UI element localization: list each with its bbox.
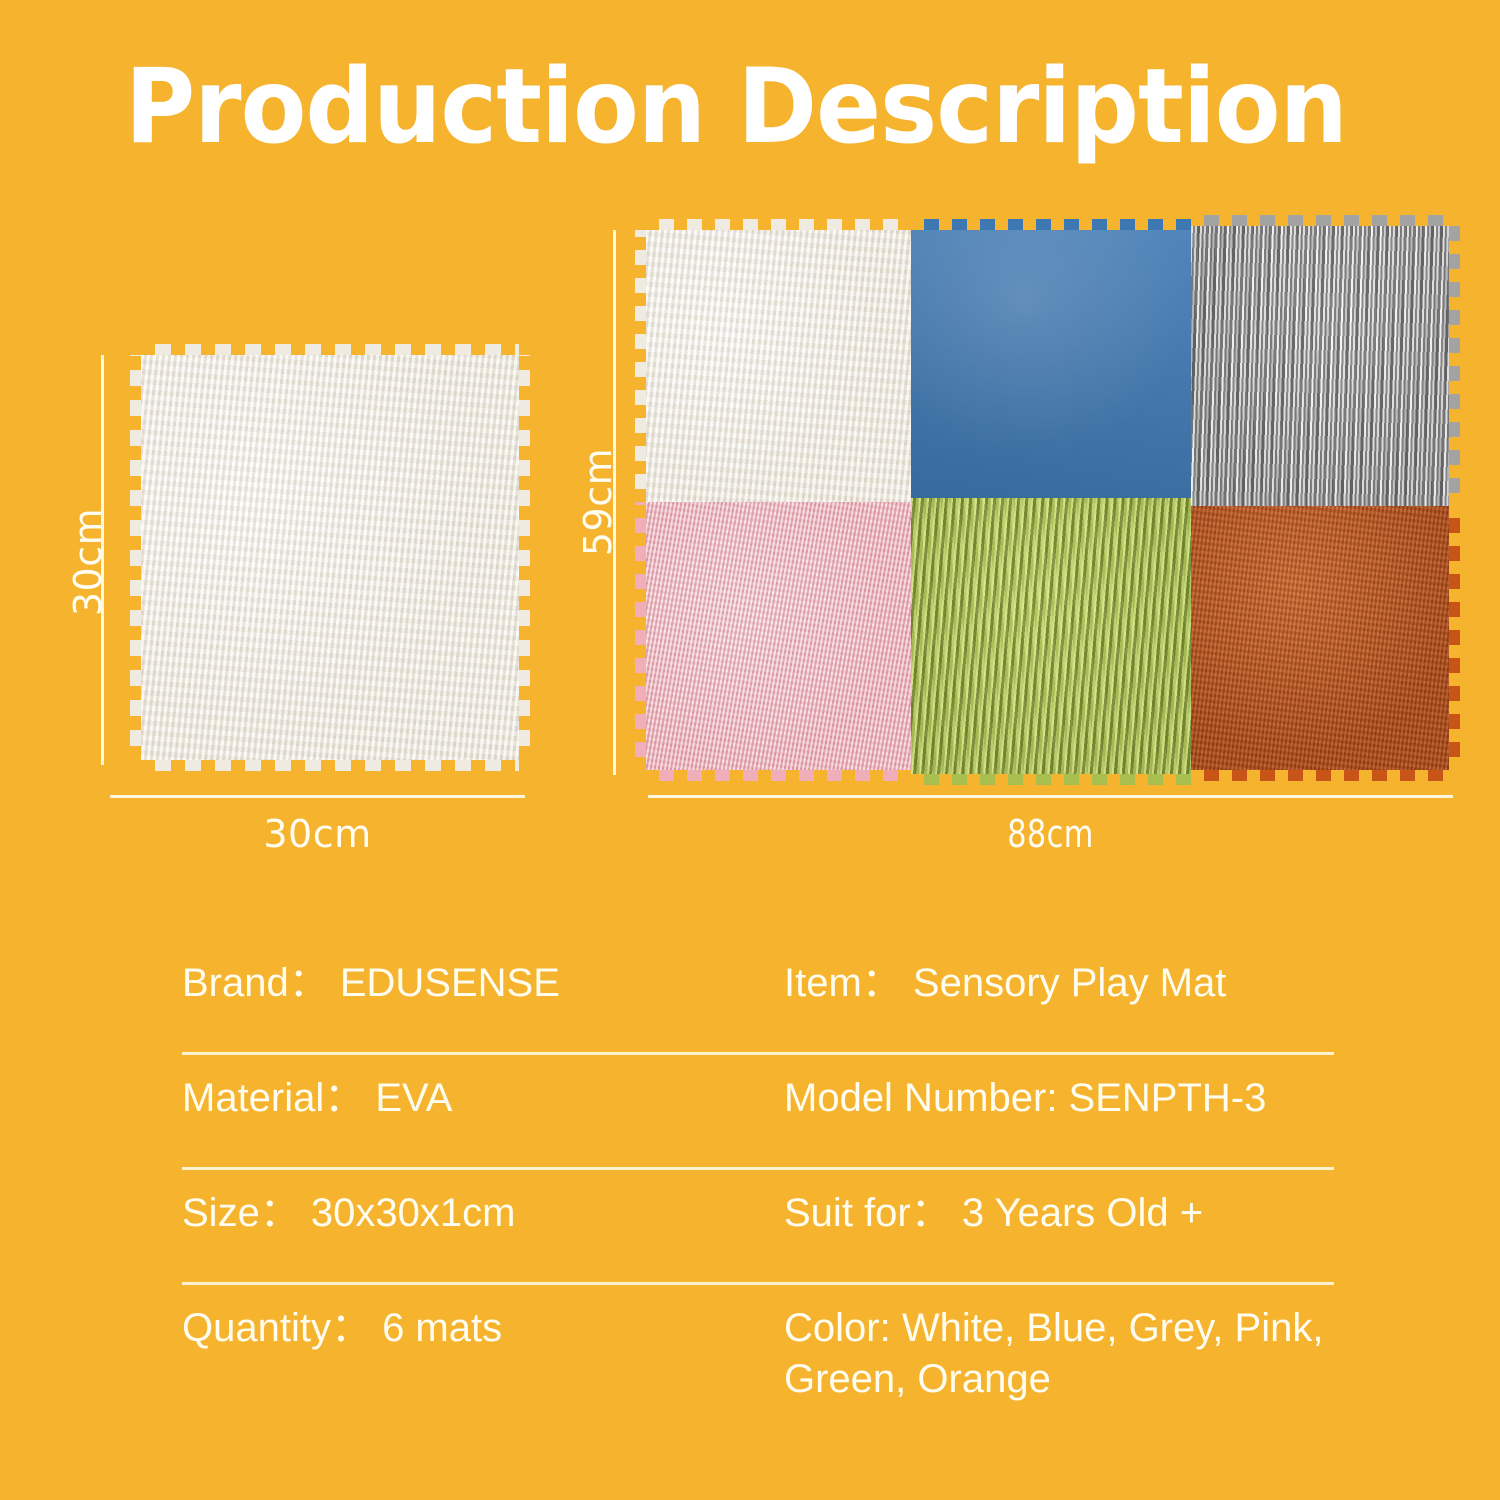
mat-tile-green [911,498,1191,774]
mat-tile-grey-nubs-right [1449,226,1460,506]
mat-tile-grey [1191,226,1449,506]
mat-tile-white-nubs-left [635,230,646,502]
mat-tile-blue-surface [911,230,1191,502]
mat-tile-pink [646,502,911,770]
mat-grid-width-label: 88cm [729,812,1373,856]
spec-quantity: Quantity： 6 mats [182,1285,784,1354]
mat-grid-height-label: 59cm [576,422,620,582]
mat-tile-white-surface [646,230,911,502]
mat-tile-orange-nubs-right [1449,506,1460,770]
white-mat-nubs-right [519,355,530,760]
mat-tile-white [646,230,911,502]
spec-row: Size： 30x30x1cm Suit for： 3 Years Old + [182,1170,1334,1282]
mat-grid-width-line [648,795,1453,798]
spec-row: Quantity： 6 mats Color: White, Blue, Gre… [182,1285,1334,1435]
mat-tile-white-nubs-top [646,219,911,230]
mat-tile-orange-surface [1191,506,1449,770]
spec-material: Material： EVA [182,1055,784,1124]
mat-tile-orange-nubs-bottom [1191,770,1449,781]
spec-suit-for: Suit for： 3 Years Old + [784,1170,1334,1239]
spec-item: Item： Sensory Play Mat [784,940,1334,1009]
mat-tile-grey-surface [1191,226,1449,506]
specification-table: Brand： EDUSENSE Item： Sensory Play Mat M… [182,940,1334,1435]
spec-row: Material： EVA Model Number: SENPTH-3 [182,1055,1334,1167]
mat-tile-green-surface [911,498,1191,774]
spec-model-number: Model Number: SENPTH-3 [784,1055,1334,1124]
mat-tile-blue [911,230,1191,502]
mat-tile-orange [1191,506,1449,770]
mat-tile-pink-nubs-left [635,502,646,770]
single-mat-width-label: 30cm [110,812,525,856]
mat-tile-green-nubs-bottom [911,774,1191,785]
white-mat-nubs-bottom [141,760,519,771]
spec-brand: Brand： EDUSENSE [182,940,784,1009]
mat-tile-blue-nubs-top [911,219,1191,230]
white-mat-nubs-left [130,355,141,760]
white-mat [141,355,519,760]
mat-tile-pink-nubs-bottom [646,770,911,781]
product-illustration: 30cm 30cm 59cm [0,200,1500,860]
spec-color: Color: White, Blue, Grey, Pink, Green, O… [784,1285,1334,1405]
spec-size: Size： 30x30x1cm [182,1170,784,1239]
mat-tile-pink-surface [646,502,911,770]
single-mat-height-label: 30cm [66,482,110,642]
spec-row: Brand： EDUSENSE Item： Sensory Play Mat [182,940,1334,1052]
white-mat-surface [141,355,519,760]
mat-tile-grey-nubs-top [1191,215,1449,226]
white-mat-nubs-top [141,344,519,355]
page-title: Production Description [125,52,1297,163]
single-mat-width-line [110,795,525,798]
